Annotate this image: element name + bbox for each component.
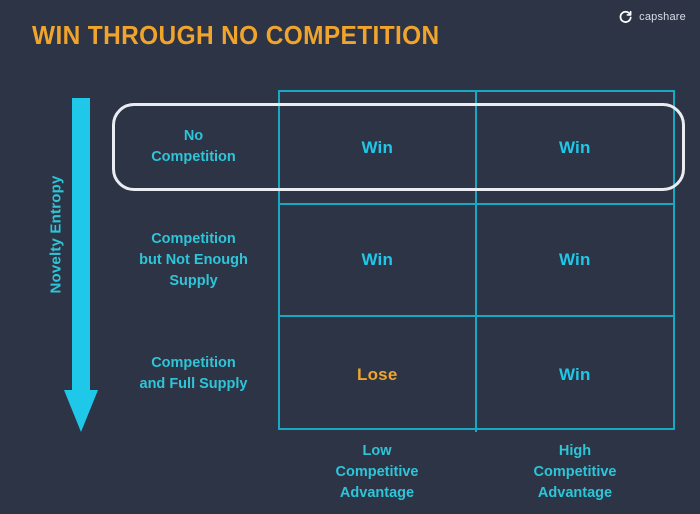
matrix-cell-r2c0[interactable]: Lose <box>280 317 477 432</box>
col-label-line: Advantage <box>278 483 476 504</box>
decision-matrix: Win Win Win Win Lose Win <box>278 90 675 430</box>
page-title: WIN THROUGH NO COMPETITION <box>32 20 440 50</box>
brand-logo: capshare <box>618 9 686 24</box>
row-label-no-competition: No Competition <box>112 126 275 168</box>
col-label-line: Competitive <box>476 462 674 483</box>
col-label-line: Advantage <box>476 483 674 504</box>
row-label-line: Competition <box>112 229 275 250</box>
down-arrow-icon <box>64 98 98 432</box>
column-label-high-competitive-advantage: High Competitive Advantage <box>476 441 674 504</box>
col-label-line: High <box>476 441 674 462</box>
column-label-low-competitive-advantage: Low Competitive Advantage <box>278 441 476 504</box>
row-label-line: but Not Enough <box>112 250 275 271</box>
matrix-cell-r1c1[interactable]: Win <box>477 205 674 317</box>
col-label-line: Competitive <box>278 462 476 483</box>
row-label-line: Competition <box>112 353 275 374</box>
brand-name: capshare <box>639 11 686 23</box>
col-label-line: Low <box>278 441 476 462</box>
row-label-line: Competition <box>112 147 275 168</box>
y-axis: Novelty Entropy <box>26 94 106 434</box>
row-label-line: and Full Supply <box>112 374 275 395</box>
circular-arrow-icon <box>618 9 633 24</box>
matrix-cell-r2c1[interactable]: Win <box>477 317 674 432</box>
matrix-cell-r0c1[interactable]: Win <box>477 92 674 205</box>
row-label-competition-full-supply: Competition and Full Supply <box>112 353 275 395</box>
slide-canvas: WIN THROUGH NO COMPETITION capshare Nove… <box>0 0 700 514</box>
row-label-line: Supply <box>112 271 275 292</box>
matrix-cell-r0c0[interactable]: Win <box>280 92 477 205</box>
row-label-competition-not-enough-supply: Competition but Not Enough Supply <box>112 229 275 292</box>
matrix-cell-r1c0[interactable]: Win <box>280 205 477 317</box>
y-axis-label: Novelty Entropy <box>48 135 65 335</box>
row-label-line: No <box>112 126 275 147</box>
